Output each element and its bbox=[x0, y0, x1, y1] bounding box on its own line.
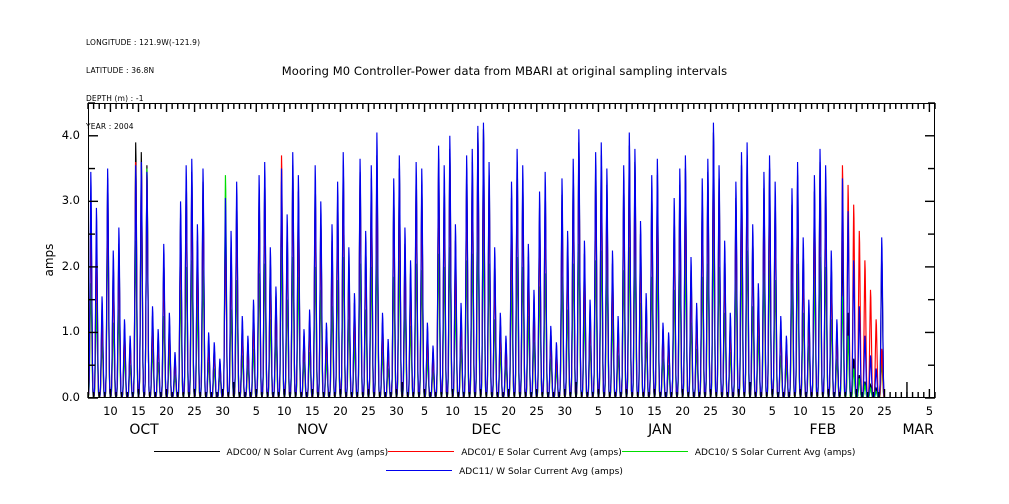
legend-row: ADC11/ W Solar Current Avg (amps) bbox=[0, 460, 1009, 479]
legend-label: ADC11/ W Solar Current Avg (amps) bbox=[452, 467, 623, 477]
x-axis-month-label: OCT bbox=[109, 422, 179, 438]
x-axis-month-label: FEB bbox=[788, 422, 858, 438]
legend-color-swatch bbox=[386, 470, 452, 471]
legend-label: ADC00/ N Solar Current Avg (amps) bbox=[220, 448, 389, 458]
y-axis-tick-label: 0.0 bbox=[40, 390, 80, 404]
x-axis-month-label: DEC bbox=[451, 422, 521, 438]
legend-color-swatch bbox=[154, 451, 220, 452]
x-axis-month-label: NOV bbox=[277, 422, 347, 438]
legend-entry[interactable]: ADC01/ E Solar Current Avg (amps) bbox=[388, 442, 622, 461]
legend-label: ADC01/ E Solar Current Avg (amps) bbox=[454, 448, 622, 458]
page-title: Mooring M0 Controller-Power data from MB… bbox=[0, 64, 1009, 78]
legend-entry[interactable]: ADC10/ S Solar Current Avg (amps) bbox=[622, 442, 856, 461]
metadata-longitude: LONGITUDE : 121.9W(-121.9) bbox=[86, 38, 200, 47]
y-axis-tick-label: 3.0 bbox=[40, 193, 80, 207]
legend-entry[interactable]: ADC00/ N Solar Current Avg (amps) bbox=[154, 442, 389, 461]
legend-label: ADC10/ S Solar Current Avg (amps) bbox=[688, 448, 856, 458]
y-axis-tick-label: 1.0 bbox=[40, 324, 80, 338]
chart-legend: ADC00/ N Solar Current Avg (amps)ADC01/ … bbox=[0, 441, 1009, 479]
x-axis-month-label: JAN bbox=[625, 422, 695, 438]
legend-row: ADC00/ N Solar Current Avg (amps)ADC01/ … bbox=[0, 441, 1009, 460]
legend-entry[interactable]: ADC11/ W Solar Current Avg (amps) bbox=[386, 461, 623, 480]
y-axis-tick-label: 2.0 bbox=[40, 259, 80, 273]
legend-color-swatch bbox=[388, 451, 454, 452]
y-axis-tick-label: 4.0 bbox=[40, 128, 80, 142]
legend-color-swatch bbox=[622, 451, 688, 452]
x-axis-month-label: MAR bbox=[883, 422, 953, 438]
axis-tick-marks bbox=[80, 95, 950, 415]
